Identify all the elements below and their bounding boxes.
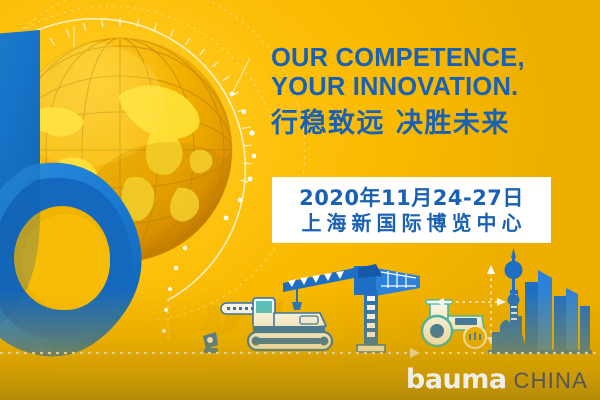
excavator-icon	[248, 298, 332, 350]
machinery-illustration-layer	[0, 0, 600, 400]
bauma-china-logo: bauma CHINA	[406, 366, 588, 393]
logo-region-text: CHINA	[514, 370, 588, 392]
bauma-china-event-banner: OUR COMPETENCE, YOUR INNOVATION. 行稳致远 决胜…	[0, 0, 600, 400]
logo-brand-text: bauma	[406, 366, 507, 393]
road-roller-icon	[422, 300, 486, 348]
